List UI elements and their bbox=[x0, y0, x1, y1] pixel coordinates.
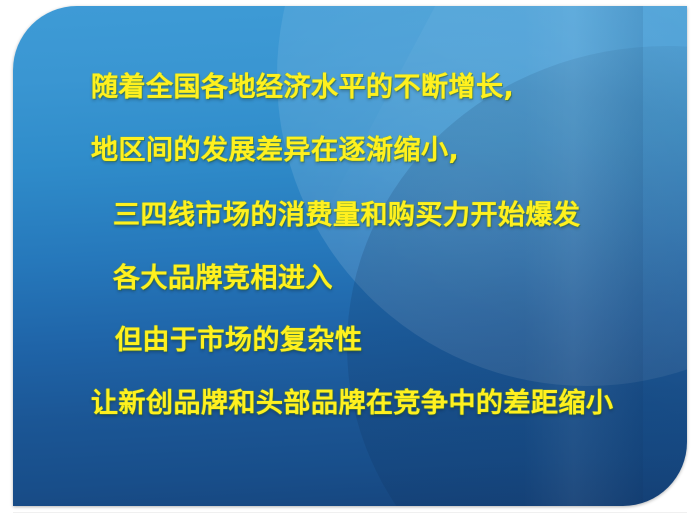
slide-text-line-3: 三四线市场的消费量和购买力开始爆发 bbox=[113, 202, 581, 229]
presentation-slide: 随着全国各地经济水平的不断增长, 地区间的发展差异在逐渐缩小, 三四线市场的消费… bbox=[13, 6, 687, 506]
slide-text-line-4: 各大品牌竞相进入 bbox=[113, 265, 333, 292]
slide-text-line-1: 随着全国各地经济水平的不断增长, bbox=[91, 74, 514, 101]
slide-text-line-5: 但由于市场的复杂性 bbox=[115, 327, 363, 354]
slide-screenshot: 随着全国各地经济水平的不断增长, 地区间的发展差异在逐渐缩小, 三四线市场的消费… bbox=[0, 0, 700, 525]
slide-text-line-6: 让新创品牌和头部品牌在竞争中的差距缩小 bbox=[91, 390, 614, 417]
slide-right-seam bbox=[523, 6, 643, 506]
slide-text-block: 随着全国各地经济水平的不断增长, 地区间的发展差异在逐渐缩小, 三四线市场的消费… bbox=[13, 6, 687, 506]
slide-diagonal-band bbox=[313, 6, 687, 506]
slide-bottom-edge bbox=[13, 512, 687, 513]
slide-text-line-2: 地区间的发展差异在逐渐缩小, bbox=[91, 137, 459, 164]
slide-highlight-swoosh bbox=[277, 6, 687, 386]
slide-shadow-swoosh bbox=[347, 46, 687, 506]
